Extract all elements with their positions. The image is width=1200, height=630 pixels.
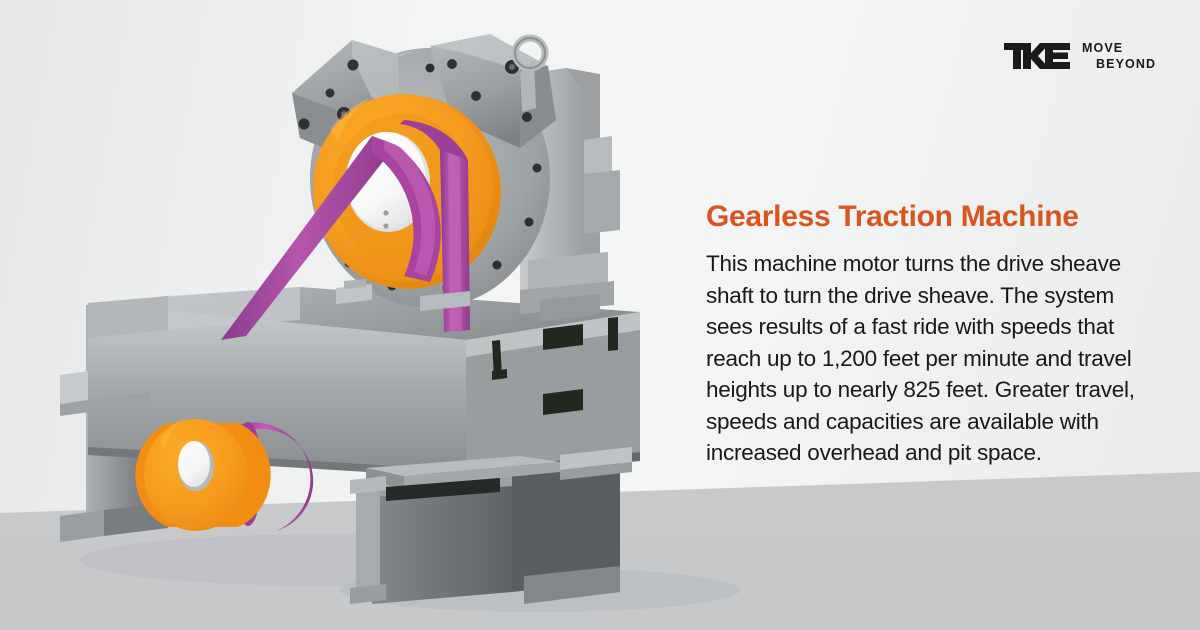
tke-logo-icon (1004, 41, 1070, 71)
deflector-sheave (135, 418, 313, 531)
body-paragraph: This machine motor turns the drive sheav… (706, 248, 1158, 469)
page-title: Gearless Traction Machine (706, 200, 1158, 234)
brand-logo: MOVE BEYOND (1004, 40, 1156, 72)
text-column: Gearless Traction Machine This machine m… (706, 200, 1158, 469)
tagline-line-2: BEYOND (1082, 56, 1156, 72)
brand-tagline: MOVE BEYOND (1082, 40, 1156, 72)
support-pedestal (350, 456, 620, 604)
infographic-canvas: Gearless Traction Machine This machine m… (0, 0, 1200, 630)
tagline-line-1: MOVE (1082, 40, 1156, 56)
